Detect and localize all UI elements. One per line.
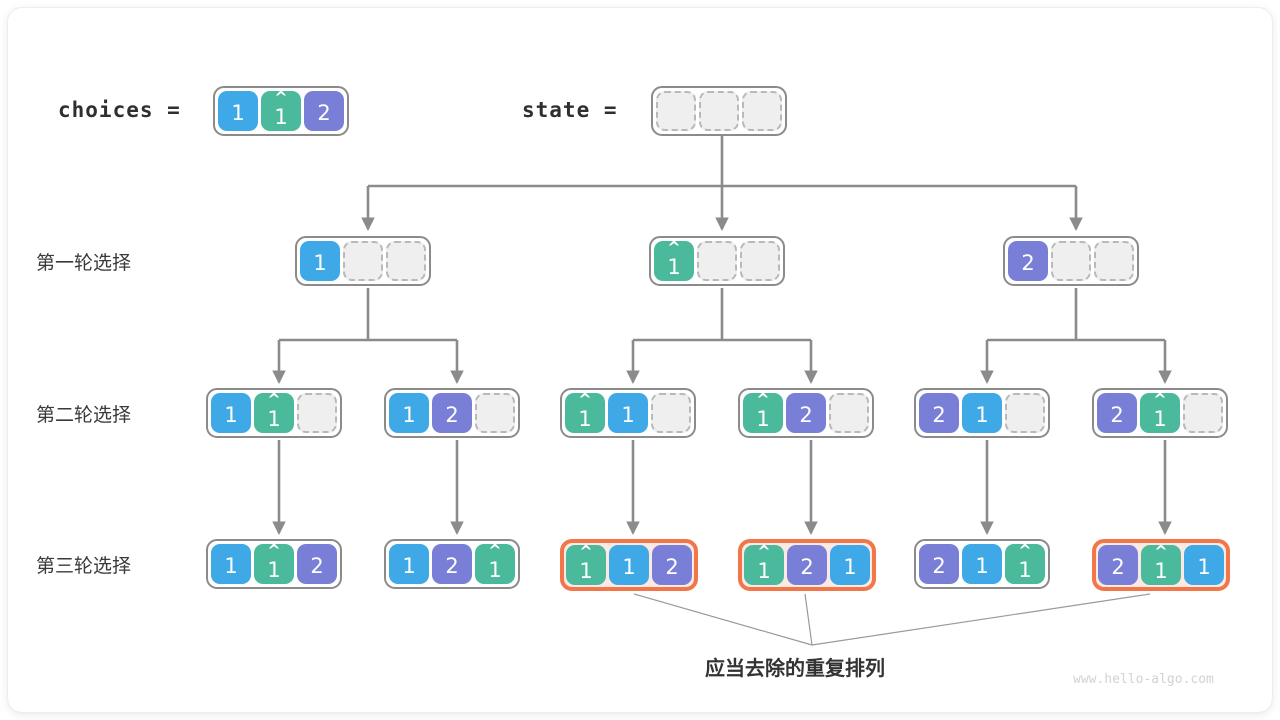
cell-0: 1 — [389, 544, 429, 584]
cell-2 — [475, 393, 515, 433]
cell-2 — [740, 241, 780, 281]
cell-value: 2 — [1111, 557, 1124, 578]
cell-1 — [343, 241, 383, 281]
cell-2 — [1005, 393, 1045, 433]
cell-2 — [1094, 241, 1134, 281]
state-array — [651, 86, 787, 136]
watermark: www.hello-algo.com — [1073, 672, 1214, 687]
cell-2: 1 — [1184, 545, 1224, 585]
cell-0: 1 — [389, 393, 429, 433]
node-l2-0: 1^1 — [206, 388, 342, 438]
cell-0: ^1 — [743, 393, 783, 433]
node-l1-2: 2 — [1003, 236, 1139, 286]
cell-1: 2 — [432, 544, 472, 584]
diagram-canvas: choices = 1^12 state = 第一轮选择 第二轮选择 第三轮选择… — [0, 0, 1280, 720]
node-l1-1: ^1 — [649, 236, 785, 286]
choices-array: 1^12 — [213, 86, 349, 136]
cell-value: 2 — [932, 556, 945, 577]
cell-value: 1 — [267, 560, 280, 581]
cell-2 — [1183, 393, 1223, 433]
cell-1: 2 — [786, 393, 826, 433]
cell-0: ^1 — [744, 545, 784, 585]
node-l2-4: 21 — [914, 388, 1050, 438]
cell-1: ^1 — [1140, 393, 1180, 433]
cell-2: ^1 — [475, 544, 515, 584]
row-label-2: 第二轮选择 — [36, 400, 131, 427]
cell-1: 1 — [962, 393, 1002, 433]
cell-value: 2 — [310, 556, 323, 577]
row-label-3: 第三轮选择 — [36, 551, 131, 578]
cell-0: 2 — [1098, 545, 1138, 585]
node-l2-1: 12 — [384, 388, 520, 438]
cell-value: 2 — [445, 556, 458, 577]
cell-value: 1 — [1018, 560, 1031, 581]
cell-value: 2 — [317, 103, 330, 124]
cell-0: ^1 — [565, 393, 605, 433]
cell-value: 1 — [267, 409, 280, 430]
cell-0: 1 — [211, 393, 251, 433]
cell-value: 1 — [402, 556, 415, 577]
cell-1: ^1 — [261, 91, 301, 131]
cell-1: 2 — [787, 545, 827, 585]
cell-2 — [386, 241, 426, 281]
node-l3-3: ^121 — [738, 539, 876, 591]
cell-value: 1 — [224, 556, 237, 577]
cell-1 — [699, 91, 739, 131]
cell-2: 2 — [304, 91, 344, 131]
cell-2 — [651, 393, 691, 433]
cell-1: ^1 — [254, 393, 294, 433]
cell-0: 1 — [300, 241, 340, 281]
cell-value: 1 — [621, 405, 634, 426]
cell-1: 1 — [609, 545, 649, 585]
node-l3-2: ^112 — [560, 539, 698, 591]
cell-value: 1 — [402, 405, 415, 426]
choices-label: choices = — [58, 98, 181, 122]
cell-value: 2 — [1021, 253, 1034, 274]
cell-value: 2 — [799, 405, 812, 426]
cell-value: 1 — [667, 257, 680, 278]
cell-0: ^1 — [654, 241, 694, 281]
cell-1: ^1 — [254, 544, 294, 584]
cell-0: 2 — [1097, 393, 1137, 433]
node-l3-1: 12^1 — [384, 539, 520, 589]
cell-0: 2 — [1008, 241, 1048, 281]
node-l2-3: ^12 — [738, 388, 874, 438]
cell-value: 1 — [313, 253, 326, 274]
cell-value: 1 — [274, 107, 287, 128]
cell-value: 1 — [975, 556, 988, 577]
cell-2 — [742, 91, 782, 131]
cell-value: 2 — [665, 557, 678, 578]
cell-1: 2 — [432, 393, 472, 433]
cell-value: 1 — [975, 405, 988, 426]
cell-value: 2 — [800, 557, 813, 578]
cell-2 — [297, 393, 337, 433]
cell-value: 1 — [488, 560, 501, 581]
cell-0: ^1 — [566, 545, 606, 585]
cell-0: 2 — [919, 393, 959, 433]
cell-0: 2 — [919, 544, 959, 584]
connector-wires — [0, 0, 1280, 720]
cell-0: 1 — [218, 91, 258, 131]
duplicate-permutations-caption: 应当去除的重复排列 — [705, 652, 885, 681]
cell-value: 1 — [1154, 561, 1167, 582]
cell-2: ^1 — [1005, 544, 1045, 584]
cell-2: 1 — [830, 545, 870, 585]
state-label: state = — [522, 98, 618, 122]
cell-value: 2 — [445, 405, 458, 426]
cell-value: 1 — [756, 409, 769, 430]
cell-2: 2 — [297, 544, 337, 584]
node-l2-2: ^11 — [560, 388, 696, 438]
cell-value: 1 — [1197, 557, 1210, 578]
cell-value: 2 — [1110, 405, 1123, 426]
diagram-stage: choices = 1^12 state = 第一轮选择 第二轮选择 第三轮选择… — [0, 0, 1280, 720]
cell-value: 1 — [843, 557, 856, 578]
cell-value: 2 — [932, 405, 945, 426]
node-l1-0: 1 — [295, 236, 431, 286]
cell-1: ^1 — [1141, 545, 1181, 585]
node-l3-5: 2^11 — [1092, 539, 1230, 591]
cell-value: 1 — [622, 557, 635, 578]
cell-2 — [829, 393, 869, 433]
cell-0: 1 — [211, 544, 251, 584]
cell-2: 2 — [652, 545, 692, 585]
cell-1: 1 — [608, 393, 648, 433]
cell-value: 1 — [1153, 409, 1166, 430]
node-l3-0: 1^12 — [206, 539, 342, 589]
cell-value: 1 — [231, 103, 244, 124]
node-l2-5: 2^1 — [1092, 388, 1228, 438]
node-l3-4: 21^1 — [914, 539, 1050, 589]
cell-value: 1 — [224, 405, 237, 426]
cell-value: 1 — [578, 409, 591, 430]
cell-value: 1 — [757, 561, 770, 582]
cell-1: 1 — [962, 544, 1002, 584]
cell-1 — [1051, 241, 1091, 281]
row-label-1: 第一轮选择 — [36, 248, 131, 275]
cell-1 — [697, 241, 737, 281]
cell-0 — [656, 91, 696, 131]
cell-value: 1 — [579, 561, 592, 582]
